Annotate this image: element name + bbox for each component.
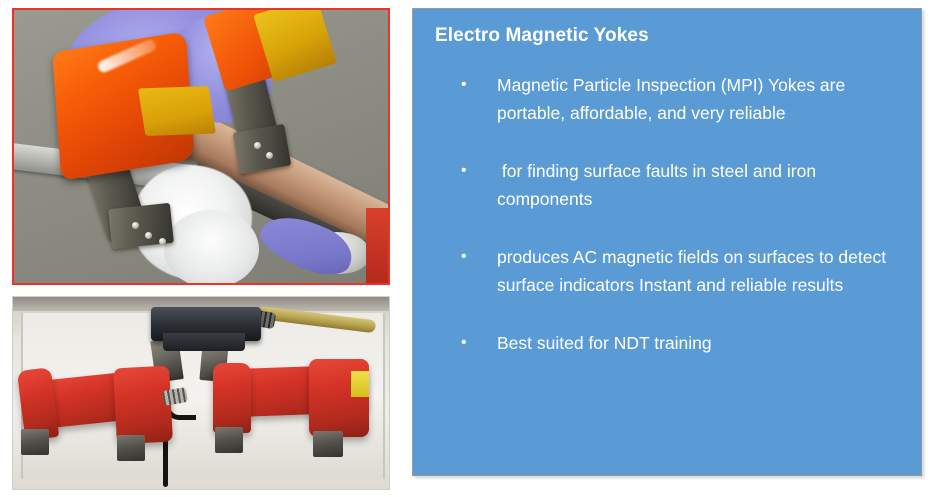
bullet-dot-icon: •: [461, 243, 497, 271]
feature-bullet-list: • Magnetic Particle Inspection (MPI) Yok…: [413, 71, 921, 357]
info-panel: Electro Magnetic Yokes • Magnetic Partic…: [412, 8, 922, 476]
red-yoke-1-head: [113, 366, 173, 445]
rivet-icon: [266, 152, 273, 159]
yoke-pole-foot: [21, 429, 49, 455]
yoke-pole-foot: [117, 435, 145, 461]
bullet-dot-icon: •: [461, 329, 497, 357]
list-item-text: for finding surface faults in steel and …: [497, 157, 895, 213]
yokes-on-bench-photo: [12, 296, 390, 490]
list-item: • for finding surface faults in steel an…: [461, 157, 895, 213]
black-yoke-base: [163, 333, 245, 351]
red-yoke-2-grip: [213, 363, 251, 433]
rivet-icon: [145, 232, 152, 239]
list-item: • Best suited for NDT training: [461, 329, 895, 357]
yoke-pole-foot: [215, 427, 243, 453]
yoke-label-front: [138, 86, 216, 136]
red-object-corner: [366, 208, 388, 283]
bullet-dot-icon: •: [461, 157, 497, 185]
rivet-icon: [132, 222, 139, 229]
rivet-icon: [254, 142, 261, 149]
bullet-dot-icon: •: [461, 71, 497, 99]
panel-title: Electro Magnetic Yokes: [435, 25, 921, 47]
rivet-icon: [159, 238, 166, 245]
list-item-text: Magnetic Particle Inspection (MPI) Yokes…: [497, 71, 895, 127]
weld-bead: [164, 210, 259, 285]
yoke-pole-foot: [313, 431, 343, 457]
yellow-rating-label: [351, 371, 369, 397]
list-item-text: produces AC magnetic fields on surfaces …: [497, 243, 895, 299]
list-item: • produces AC magnetic fields on surface…: [461, 243, 895, 299]
list-item-text: Best suited for NDT training: [497, 329, 895, 357]
list-item: • Magnetic Particle Inspection (MPI) Yok…: [461, 71, 895, 127]
yoke-foot-right: [233, 124, 292, 174]
photo-column: [12, 8, 390, 488]
yoke-in-use-photo: [12, 8, 390, 285]
